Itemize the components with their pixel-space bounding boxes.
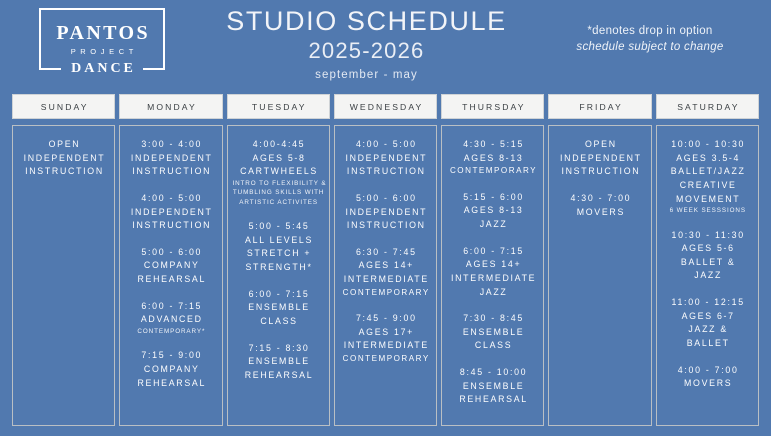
day-header-label: MONDAY (145, 102, 197, 112)
day-body-friday: OPENINDEPENDENTINSTRUCTION4:30 - 7:00MOV… (548, 125, 651, 426)
class-detail: JAZZ (661, 269, 754, 283)
class-detail: REHEARSAL (124, 273, 217, 287)
class-block[interactable]: 10:00 - 10:30AGES 3.5-4BALLET/JAZZCREATI… (661, 138, 754, 216)
class-detail: ALL LEVELS (232, 234, 325, 248)
class-time: 7:15 - 9:00 (124, 349, 217, 363)
logo-frame: PANTOS PROJECT DANCE (39, 8, 165, 70)
class-detail: JAZZ & (661, 323, 754, 337)
day-column: TUESDAY4:00-4:45AGES 5-8CARTWHEELSINTRO … (227, 94, 330, 426)
note-dropin: *denotes drop in option (541, 24, 759, 40)
class-detail: AGES 14+ (446, 258, 539, 272)
class-detail: ENSEMBLE (446, 380, 539, 394)
class-block[interactable]: 3:00 - 4:00INDEPENDENTINSTRUCTION (124, 138, 217, 179)
class-detail: AGES 5-8 (232, 152, 325, 166)
class-detail: INSTRUCTION (553, 165, 646, 179)
class-detail: CREATIVE (661, 179, 754, 193)
class-block[interactable]: 11:00 - 12:15AGES 6-7JAZZ &BALLET (661, 296, 754, 351)
class-block[interactable]: 7:45 - 9:00AGES 17+INTERMEDIATECONTEMPOR… (339, 312, 432, 365)
schedule-poster: PANTOS PROJECT DANCE STUDIO SCHEDULE 202… (0, 0, 771, 436)
class-detail: AGES 8-13 (446, 204, 539, 218)
class-detail: STRETCH + (232, 247, 325, 261)
day-body-monday: 3:00 - 4:00INDEPENDENTINSTRUCTION4:00 - … (119, 125, 222, 426)
class-block[interactable]: 8:45 - 10:00ENSEMBLEREHEARSAL (446, 366, 539, 407)
class-block[interactable]: 6:00 - 7:15ADVANCEDCONTEMPORARY* (124, 300, 217, 337)
day-header-label: TUESDAY (250, 102, 307, 112)
season-months: september - may (192, 66, 541, 84)
class-time: 4:30 - 7:00 (553, 192, 646, 206)
class-detail: INSTRUCTION (124, 219, 217, 233)
class-detail: STRENGTH* (232, 261, 325, 275)
class-time: 4:00-4:45 (232, 138, 325, 152)
class-detail: JAZZ (446, 218, 539, 232)
day-body-sunday: OPENINDEPENDENTINSTRUCTION (12, 125, 115, 426)
class-detail: INDEPENDENT (17, 152, 110, 166)
class-block[interactable]: 5:00 - 6:00INDEPENDENTINSTRUCTION (339, 192, 432, 233)
class-block[interactable]: 4:00-4:45AGES 5-8CARTWHEELSINTRO TO FLEX… (232, 138, 325, 207)
day-header-thursday[interactable]: THURSDAY (441, 94, 544, 119)
class-time: 10:30 - 11:30 (661, 229, 754, 243)
class-detail: COMPANY (124, 363, 217, 377)
day-column: SATURDAY10:00 - 10:30AGES 3.5-4BALLET/JA… (656, 94, 759, 426)
class-detail: AGES 6-7 (661, 310, 754, 324)
class-time: 7:15 - 8:30 (232, 342, 325, 356)
class-detail: INTERMEDIATE (339, 273, 432, 287)
class-detail: INTRO TO FLEXIBILITY & (232, 179, 325, 188)
class-block[interactable]: 6:00 - 7:15AGES 14+INTERMEDIATEJAZZ (446, 245, 539, 300)
class-block[interactable]: 10:30 - 11:30AGES 5-6BALLET &JAZZ (661, 229, 754, 284)
logo-pantos-text: PANTOS (54, 23, 150, 43)
class-detail: INTERMEDIATE (446, 272, 539, 286)
class-detail: CONTEMPORARY (339, 287, 432, 300)
day-header-friday[interactable]: FRIDAY (548, 94, 651, 119)
day-column: THURSDAY4:30 - 5:15AGES 8-13CONTEMPORARY… (441, 94, 544, 426)
class-time: 5:00 - 6:00 (124, 246, 217, 260)
class-block[interactable]: 4:00 - 7:00MOVERS (661, 364, 754, 391)
class-block[interactable]: 7:15 - 8:30ENSEMBLEREHEARSAL (232, 342, 325, 383)
class-detail: AGES 3.5-4 (661, 152, 754, 166)
class-time: 6:00 - 7:15 (124, 300, 217, 314)
class-detail: ARTISTIC ACTIVITES (232, 198, 325, 207)
class-detail: CARTWHEELS (232, 165, 325, 179)
class-detail: ENSEMBLE (232, 355, 325, 369)
class-detail: MOVERS (553, 206, 646, 220)
class-block[interactable]: 6:30 - 7:45AGES 14+INTERMEDIATECONTEMPOR… (339, 246, 432, 299)
poster-header: PANTOS PROJECT DANCE STUDIO SCHEDULE 202… (0, 0, 771, 94)
schedule-grid: SUNDAYOPENINDEPENDENTINSTRUCTIONMONDAY3:… (0, 94, 771, 436)
class-time: 7:30 - 8:45 (446, 312, 539, 326)
class-detail: INDEPENDENT (124, 152, 217, 166)
class-block[interactable]: 4:00 - 5:00INDEPENDENTINSTRUCTION (124, 192, 217, 233)
day-header-label: FRIDAY (577, 102, 623, 112)
class-time: 4:00 - 7:00 (661, 364, 754, 378)
class-detail: TUMBLING SKILLS WITH (232, 188, 325, 197)
class-detail: INSTRUCTION (124, 165, 217, 179)
day-header-label: THURSDAY (460, 102, 526, 112)
class-time: 4:00 - 5:00 (124, 192, 217, 206)
class-detail: BALLET (661, 337, 754, 351)
day-header-tuesday[interactable]: TUESDAY (227, 94, 330, 119)
class-time: 3:00 - 4:00 (124, 138, 217, 152)
day-header-label: SUNDAY (39, 102, 89, 112)
brand-logo: PANTOS PROJECT DANCE (12, 0, 192, 70)
class-detail: JAZZ (446, 286, 539, 300)
day-body-saturday: 10:00 - 10:30AGES 3.5-4BALLET/JAZZCREATI… (656, 125, 759, 426)
class-time: 6:00 - 7:15 (446, 245, 539, 259)
class-block[interactable]: 5:00 - 5:45ALL LEVELSSTRETCH +STRENGTH* (232, 220, 325, 275)
class-block[interactable]: OPENINDEPENDENTINSTRUCTION (553, 138, 646, 179)
class-time: OPEN (553, 138, 646, 152)
season-years: 2025-2026 (192, 37, 541, 66)
class-detail: INDEPENDENT (124, 206, 217, 220)
class-detail: 6 WEEK SESSSIONS (661, 206, 754, 215)
day-body-tuesday: 4:00-4:45AGES 5-8CARTWHEELSINTRO TO FLEX… (227, 125, 330, 426)
class-detail: INSTRUCTION (339, 219, 432, 233)
class-time: 4:00 - 5:00 (339, 138, 432, 152)
day-header-wednesday[interactable]: WEDNESDAY (334, 94, 437, 119)
class-detail: INSTRUCTION (339, 165, 432, 179)
day-column: MONDAY3:00 - 4:00INDEPENDENTINSTRUCTION4… (119, 94, 222, 426)
day-header-sunday[interactable]: SUNDAY (12, 94, 115, 119)
day-body-wednesday: 4:00 - 5:00INDEPENDENTINSTRUCTION5:00 - … (334, 125, 437, 426)
class-detail: COMPANY (124, 259, 217, 273)
logo-rule-left (39, 68, 61, 70)
class-detail: CONTEMPORARY (446, 165, 539, 178)
class-block[interactable]: 6:00 - 7:15ENSEMBLECLASS (232, 288, 325, 329)
class-time: 8:45 - 10:00 (446, 366, 539, 380)
class-detail: MOVEMENT (661, 193, 754, 207)
class-detail: BALLET & (661, 256, 754, 270)
class-detail: CLASS (232, 315, 325, 329)
class-detail: ENSEMBLE (446, 326, 539, 340)
class-detail: ENSEMBLE (232, 301, 325, 315)
day-column: WEDNESDAY4:00 - 5:00INDEPENDENTINSTRUCTI… (334, 94, 437, 426)
class-detail: AGES 5-6 (661, 242, 754, 256)
day-header-monday[interactable]: MONDAY (119, 94, 222, 119)
class-detail: CONTEMPORARY* (124, 327, 217, 336)
class-time: OPEN (17, 138, 110, 152)
day-header-saturday[interactable]: SATURDAY (656, 94, 759, 119)
class-block[interactable]: 5:15 - 6:00AGES 8-13JAZZ (446, 191, 539, 232)
class-detail: INDEPENDENT (553, 152, 646, 166)
class-detail: CLASS (446, 339, 539, 353)
class-detail: REHEARSAL (232, 369, 325, 383)
note-subject-to-change: schedule subject to change (541, 40, 759, 56)
class-time: 6:30 - 7:45 (339, 246, 432, 260)
class-detail: INDEPENDENT (339, 206, 432, 220)
class-time: 4:30 - 5:15 (446, 138, 539, 152)
class-detail: INSTRUCTION (17, 165, 110, 179)
day-column: FRIDAYOPENINDEPENDENTINSTRUCTION4:30 - 7… (548, 94, 651, 426)
class-time: 5:00 - 6:00 (339, 192, 432, 206)
class-block[interactable]: 4:00 - 5:00INDEPENDENTINSTRUCTION (339, 138, 432, 179)
class-detail: AGES 14+ (339, 259, 432, 273)
day-header-label: SATURDAY (675, 102, 739, 112)
day-column: SUNDAYOPENINDEPENDENTINSTRUCTION (12, 94, 115, 426)
notes-block: *denotes drop in option schedule subject… (541, 0, 759, 55)
class-detail: AGES 17+ (339, 326, 432, 340)
class-detail: INDEPENDENT (339, 152, 432, 166)
logo-dance-text: DANCE (61, 62, 143, 76)
logo-rule-right (143, 68, 165, 70)
class-time: 7:45 - 9:00 (339, 312, 432, 326)
class-time: 5:15 - 6:00 (446, 191, 539, 205)
class-block[interactable]: 5:00 - 6:00COMPANYREHEARSAL (124, 246, 217, 287)
class-detail: CONTEMPORARY (339, 353, 432, 366)
class-detail: ADVANCED (124, 313, 217, 327)
logo-dance-row: DANCE (33, 62, 171, 76)
class-time: 5:00 - 5:45 (232, 220, 325, 234)
class-block[interactable]: OPENINDEPENDENTINSTRUCTION (17, 138, 110, 179)
logo-project-text: PROJECT (66, 47, 138, 56)
class-detail: MOVERS (661, 377, 754, 391)
class-detail: INTERMEDIATE (339, 339, 432, 353)
class-detail: BALLET/JAZZ (661, 165, 754, 179)
class-time: 11:00 - 12:15 (661, 296, 754, 310)
class-detail: AGES 8-13 (446, 152, 539, 166)
class-block[interactable]: 4:30 - 5:15AGES 8-13CONTEMPORARY (446, 138, 539, 178)
class-block[interactable]: 4:30 - 7:00MOVERS (553, 192, 646, 219)
class-block[interactable]: 7:15 - 9:00COMPANYREHEARSAL (124, 349, 217, 390)
day-body-thursday: 4:30 - 5:15AGES 8-13CONTEMPORARY5:15 - 6… (441, 125, 544, 426)
title-block: STUDIO SCHEDULE 2025-2026 september - ma… (192, 0, 541, 84)
class-detail: REHEARSAL (446, 393, 539, 407)
page-title: STUDIO SCHEDULE (192, 6, 541, 37)
class-time: 6:00 - 7:15 (232, 288, 325, 302)
class-time: 10:00 - 10:30 (661, 138, 754, 152)
day-header-label: WEDNESDAY (348, 102, 424, 112)
class-detail: REHEARSAL (124, 377, 217, 391)
class-block[interactable]: 7:30 - 8:45ENSEMBLECLASS (446, 312, 539, 353)
